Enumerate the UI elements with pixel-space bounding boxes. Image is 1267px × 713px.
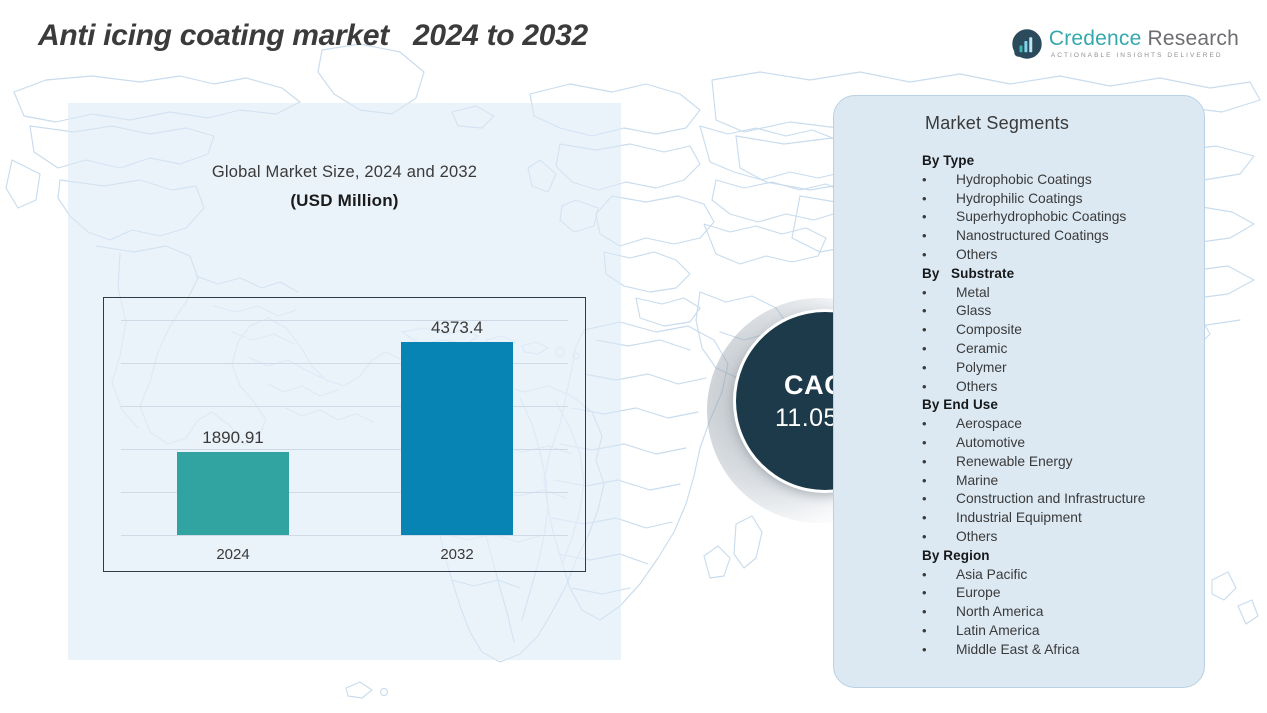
chart-bar-value-label: 1890.91 [202,428,263,448]
bullet-icon: • [922,566,956,585]
logo-wordmark: Credence Research ACTIONABLE INSIGHTS DE… [1049,28,1239,60]
page-title: Anti icing coating market 2024 to 2032 [38,19,588,53]
chart-heading: Global Market Size, 2024 and 2032 [68,163,621,182]
segment-item-label: Industrial Equipment [956,509,1082,528]
segment-list-item[interactable]: •North America [922,603,1196,622]
logo-name-research: Research [1141,27,1239,50]
segment-list-item[interactable]: •Marine [922,472,1196,491]
segment-list-item[interactable]: •Middle East & Africa [922,641,1196,660]
segment-list-item[interactable]: •Metal [922,284,1196,303]
chart-plot-area: 1890.9120244373.42032 [121,304,568,571]
bullet-icon: • [922,340,956,359]
segment-list-item[interactable]: •Hydrophobic Coatings [922,171,1196,190]
segment-list-item[interactable]: •Others [922,246,1196,265]
bullet-icon: • [922,490,956,509]
chart-category-label: 2032 [440,546,473,563]
bullet-icon: • [922,190,956,209]
segment-item-label: Latin America [956,622,1040,641]
bullet-icon: • [922,321,956,340]
segment-list-item[interactable]: •Renewable Energy [922,453,1196,472]
bullet-icon: • [922,528,956,547]
bullet-icon: • [922,378,956,397]
bullet-icon: • [922,227,956,246]
bar-chart: 1890.9120244373.42032 [103,297,586,572]
segment-item-label: Construction and Infrastructure [956,490,1145,509]
infographic-page: Anti icing coating market 2024 to 2032 C… [0,0,1267,713]
market-segments-panel: Market Segments By Type•Hydrophobic Coat… [833,95,1205,688]
segment-list-item[interactable]: •Others [922,528,1196,547]
segment-item-label: Hydrophobic Coatings [956,171,1092,190]
segment-list-item[interactable]: •Aerospace [922,415,1196,434]
segment-item-label: Automotive [956,434,1025,453]
chart-bar-group: 1890.912024 [121,452,345,535]
segment-list-item[interactable]: •Glass [922,302,1196,321]
segment-list-item[interactable]: •Automotive [922,434,1196,453]
segment-item-label: Nanostructured Coatings [956,227,1109,246]
logo-tagline: ACTIONABLE INSIGHTS DELIVERED [1051,53,1239,60]
segment-list-item[interactable]: •Latin America [922,622,1196,641]
segment-list-item[interactable]: •Asia Pacific [922,566,1196,585]
segment-item-label: Ceramic [956,340,1007,359]
segment-item-label: Marine [956,472,998,491]
chart-subheading: (USD Million) [68,191,621,211]
segment-group-heading: By End Use [922,396,1196,415]
market-size-panel: Global Market Size, 2024 and 2032 (USD M… [68,103,621,660]
bullet-icon: • [922,509,956,528]
segment-item-label: Renewable Energy [956,453,1073,472]
bullet-icon: • [922,603,956,622]
chart-bar-value-label: 4373.4 [431,318,483,338]
segment-item-label: Middle East & Africa [956,641,1079,660]
segment-list-item[interactable]: •Nanostructured Coatings [922,227,1196,246]
segment-list-item[interactable]: •Superhydrophobic Coatings [922,208,1196,227]
segment-item-label: Glass [956,302,991,321]
chart-bar[interactable] [401,342,513,535]
bullet-icon: • [922,453,956,472]
segment-item-label: Polymer [956,359,1007,378]
segment-list-item[interactable]: •Ceramic [922,340,1196,359]
segment-item-label: Superhydrophobic Coatings [956,208,1126,227]
segment-item-label: Asia Pacific [956,566,1027,585]
segment-item-label: Others [956,246,997,265]
logo-name-credence: Credence [1049,27,1142,50]
segment-list-item[interactable]: •Industrial Equipment [922,509,1196,528]
segment-item-label: Composite [956,321,1022,340]
chart-bar[interactable] [177,452,289,535]
bullet-icon: • [922,415,956,434]
bullet-icon: • [922,284,956,303]
brand-logo: Credence Research ACTIONABLE INSIGHTS DE… [1012,28,1239,60]
bullet-icon: • [922,208,956,227]
segment-list-item[interactable]: •Others [922,378,1196,397]
bullet-icon: • [922,246,956,265]
segment-list-item[interactable]: •Polymer [922,359,1196,378]
market-segments-list: By Type•Hydrophobic Coatings•Hydrophilic… [922,152,1196,660]
segment-item-label: Metal [956,284,990,303]
segment-item-label: Others [956,378,997,397]
segment-list-item[interactable]: •Europe [922,584,1196,603]
segment-item-label: North America [956,603,1043,622]
segment-item-label: Aerospace [956,415,1022,434]
bullet-icon: • [922,472,956,491]
segment-group-heading: By Substrate [922,265,1196,284]
bullet-icon: • [922,584,956,603]
bullet-icon: • [922,622,956,641]
bullet-icon: • [922,359,956,378]
credence-bar-chart-logo-icon [1012,29,1042,59]
segment-list-item[interactable]: •Construction and Infrastructure [922,490,1196,509]
bullet-icon: • [922,434,956,453]
chart-category-label: 2024 [216,546,249,563]
bullet-icon: • [922,641,956,660]
segment-group-heading: By Region [922,547,1196,566]
segment-item-label: Hydrophilic Coatings [956,190,1083,209]
chart-bar-group: 4373.42032 [345,342,569,535]
segment-list-item[interactable]: •Hydrophilic Coatings [922,190,1196,209]
market-segments-title: Market Segments [925,113,1069,134]
bullet-icon: • [922,302,956,321]
segment-list-item[interactable]: •Composite [922,321,1196,340]
bullet-icon: • [922,171,956,190]
segment-group-heading: By Type [922,152,1196,171]
logo-name: Credence Research [1049,28,1239,49]
segment-item-label: Europe [956,584,1001,603]
segment-item-label: Others [956,528,997,547]
chart-baseline [121,535,568,536]
